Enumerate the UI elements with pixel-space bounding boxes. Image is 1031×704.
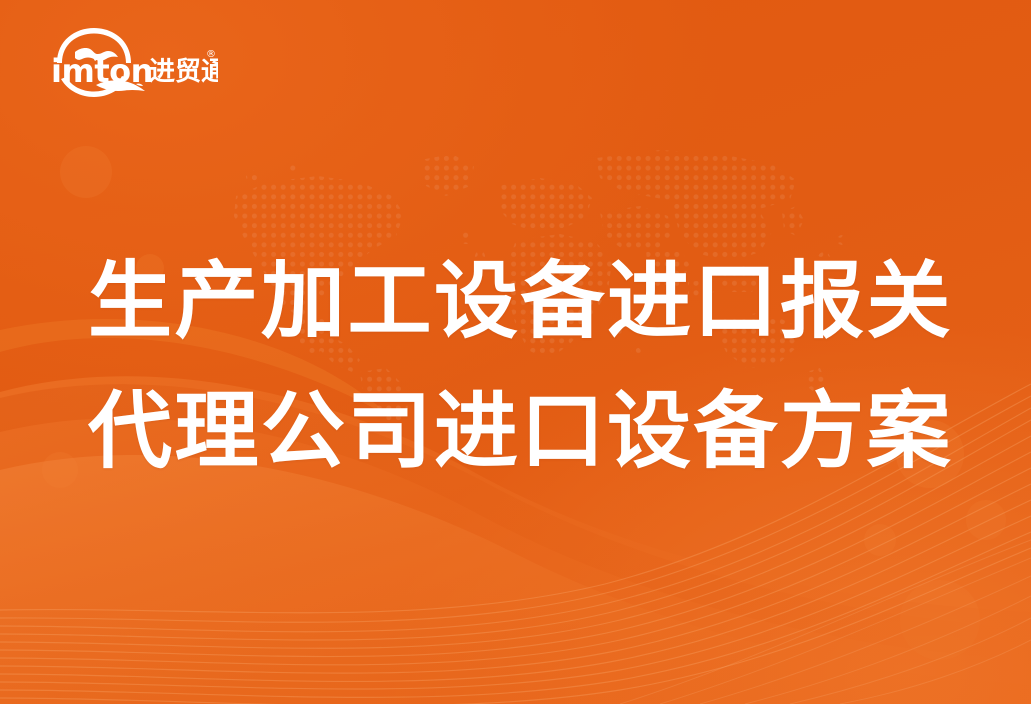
page-title: 生产加工设备进口报关 代理公司进口设备方案 [88, 236, 978, 496]
logo-chinese-text: 进贸通 [149, 57, 218, 87]
promo-banner: imton 进贸通 ® 生产加工设备进口报关 代理公司进口设备方案 [0, 0, 1031, 704]
logo-latin-text: imton [51, 52, 153, 90]
registered-trademark-icon: ® [206, 49, 216, 60]
headline-line-1: 生产加工设备进口报关 [88, 236, 978, 366]
headline-line-2: 代理公司进口设备方案 [88, 366, 978, 496]
brand-logo[interactable]: imton 进贸通 ® [38, 26, 218, 104]
